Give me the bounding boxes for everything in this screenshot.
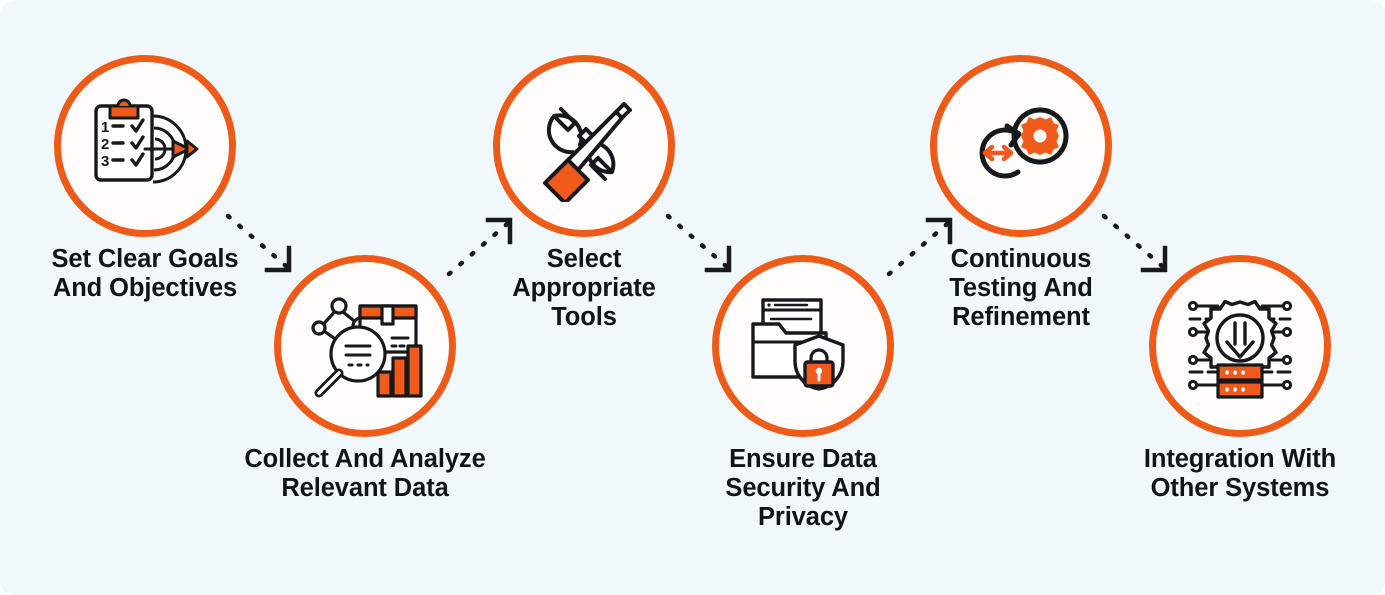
step-2-circle — [274, 255, 456, 437]
step-node-6[interactable]: Integration With Other Systems — [1149, 255, 1331, 437]
svg-text:2: 2 — [101, 136, 109, 153]
infographic-canvas: 1 2 3 Set Clear Goals And Objectives — [0, 0, 1385, 595]
step-4-label: Ensure Data Security And Privacy — [678, 445, 928, 532]
devops-loop-gear-icon — [966, 96, 1076, 196]
step-node-1[interactable]: 1 2 3 Set Clear Goals And Objectives — [54, 55, 236, 237]
tools-icon — [528, 90, 640, 202]
step-node-2[interactable]: Collect And Analyze Relevant Data — [274, 255, 456, 437]
step-node-4[interactable]: Ensure Data Security And Privacy — [712, 255, 894, 437]
clipboard-target-icon: 1 2 3 — [87, 93, 203, 199]
step-3-label: Select Appropriate Tools — [459, 245, 709, 332]
gear-circuit-server-icon — [1184, 292, 1296, 400]
data-analysis-icon — [306, 290, 424, 402]
step-1-label: Set Clear Goals And Objectives — [20, 245, 270, 303]
step-6-label: Integration With Other Systems — [1115, 445, 1365, 503]
step-2-label: Collect And Analyze Relevant Data — [240, 445, 490, 503]
folder-shield-lock-icon — [749, 294, 857, 398]
step-node-5[interactable]: Continuous Testing And Refinement — [930, 55, 1112, 237]
step-1-circle: 1 2 3 — [54, 55, 236, 237]
step-6-circle — [1149, 255, 1331, 437]
step-5-label: Continuous Testing And Refinement — [896, 245, 1146, 332]
svg-text:3: 3 — [101, 153, 109, 170]
svg-text:1: 1 — [101, 119, 109, 136]
step-5-circle — [930, 55, 1112, 237]
folder-shield-lock-icon-wrap — [712, 255, 894, 437]
step-node-3[interactable]: Select Appropriate Tools — [493, 55, 675, 237]
step-3-circle — [493, 55, 675, 237]
